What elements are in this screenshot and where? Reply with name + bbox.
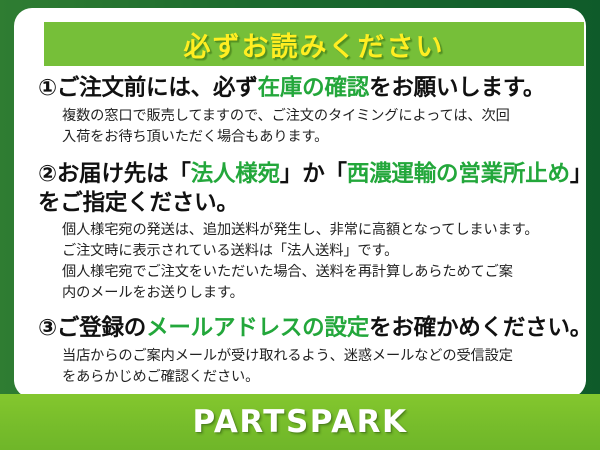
notice-item-2-head-part-0: お届け先は xyxy=(57,161,169,187)
notice-item-1-body-line-0: 複数の窓口で販売してますので、ご注文のタイミングによっては、次回 xyxy=(62,106,594,127)
notice-item-3-heading: ③ご登録のメールアドレスの設定をお確かめください。 xyxy=(38,314,594,343)
notice-item-3-marker: ③ xyxy=(38,315,57,341)
notice-item-1-body: 複数の窓口で販売してますので、ご注文のタイミングによっては、次回 入荷をお待ち頂… xyxy=(62,106,594,148)
notice-item-1-head-part-2: をお願いします。 xyxy=(369,75,545,101)
notice-item-2-body-line-2: 個人様宅宛でご注文をいただいた場合、送料を再計算しあらためてご案 xyxy=(62,262,594,283)
notice-item-2-head-part-4: か xyxy=(302,161,324,187)
notice-item-1-marker: ① xyxy=(38,75,57,101)
notice-item-3-body-line-1: をあらかじめご確認ください。 xyxy=(62,367,594,388)
notice-item-3-head-part-1: メールアドレスの設定 xyxy=(146,315,369,341)
notice-item-1-body-line-1: 入荷をお待ち頂いただく場合もあります。 xyxy=(62,127,594,148)
notice-banner: 必ずお読みください ①ご注文前には、必ず在庫の確認をお願いします。 複数の窓口で… xyxy=(0,0,600,450)
notice-item-2-head-part-6: 西濃運輸の営業所止め xyxy=(347,161,570,187)
notice-item-1: ①ご注文前には、必ず在庫の確認をお願いします。 複数の窓口で販売してますので、ご… xyxy=(38,74,594,148)
notice-item-2-body: 個人様宅宛の発送は、追加送料が発生し、非常に高額となってしまいます。 ご注文時に… xyxy=(62,220,594,304)
notice-item-1-heading: ①ご注文前には、必ず在庫の確認をお願いします。 xyxy=(38,74,594,103)
footer-bar: PARTSPARK xyxy=(0,394,600,450)
banner-title: 必ずお読みください xyxy=(184,25,445,64)
notice-item-2-head-part-2: 法人様宛 xyxy=(191,161,280,187)
notice-item-2-body-line-3: 内のメールをお送りします。 xyxy=(62,283,594,304)
notice-item-1-head-part-0: ご注文前には、必ず xyxy=(57,75,258,101)
notice-item-3-head-part-0: ご登録の xyxy=(57,315,146,341)
partspark-logo: PARTSPARK xyxy=(192,404,407,440)
notice-item-2-head-part-7: 」 xyxy=(570,161,592,187)
notice-item-3-body-line-0: 当店からのご案内メールが受け取れるよう、迷惑メールなどの受信設定 xyxy=(62,346,594,367)
notice-item-2-body-line-1: ご注文時に表示されている送料は「法人送料」です。 xyxy=(62,241,594,262)
title-banner: 必ずお読みください xyxy=(44,22,584,66)
notice-item-2-body-line-0: 個人様宅宛の発送は、追加送料が発生し、非常に高額となってしまいます。 xyxy=(62,220,594,241)
notice-item-1-head-part-1: 在庫の確認 xyxy=(258,75,370,101)
notice-item-3: ③ご登録のメールアドレスの設定をお確かめください。 当店からのご案内メールが受け… xyxy=(38,314,594,388)
notice-content: ①ご注文前には、必ず在庫の確認をお願いします。 複数の窓口で販売してますので、ご… xyxy=(38,74,594,388)
notice-panel: 必ずお読みください ①ご注文前には、必ず在庫の確認をお願いします。 複数の窓口で… xyxy=(14,8,586,398)
notice-item-2-marker: ② xyxy=(38,161,57,187)
notice-item-2-head-part-3: 」 xyxy=(280,161,302,187)
notice-item-3-body: 当店からのご案内メールが受け取れるよう、迷惑メールなどの受信設定 をあらかじめご… xyxy=(62,346,594,388)
notice-item-2: ②お届け先は「法人様宛」か「西濃運輸の営業所止め」をご指定ください。 個人様宅宛… xyxy=(38,160,594,305)
notice-item-2-head-part-1: 「 xyxy=(168,161,190,187)
notice-item-2-head-part-5: 「 xyxy=(325,161,347,187)
notice-item-2-heading: ②お届け先は「法人様宛」か「西濃運輸の営業所止め」をご指定ください。 xyxy=(38,160,594,218)
notice-item-2-head-part-8: をご指定ください。 xyxy=(38,190,239,216)
notice-item-3-head-part-2: をお確かめください。 xyxy=(369,315,592,341)
